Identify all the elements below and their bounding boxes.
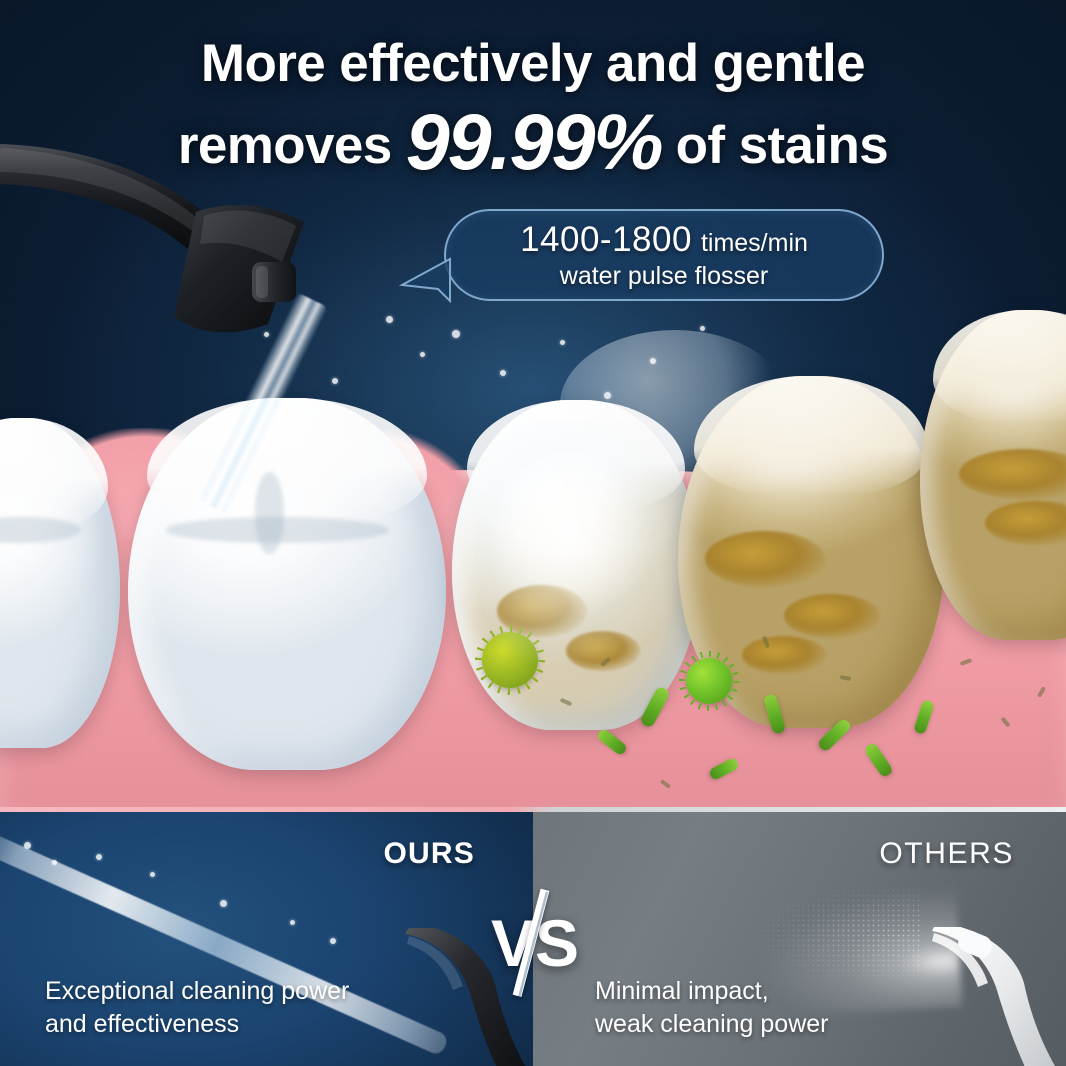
headline-percent: 99.99% (406, 102, 662, 181)
water-droplet (332, 378, 338, 384)
callout-rate-row: 1400-1800 times/min (520, 222, 808, 257)
others-caption-line-2: weak cleaning power (595, 1008, 828, 1041)
germ-icon (686, 658, 732, 704)
headline-removes: removes (178, 115, 392, 176)
others-caption-line-1: Minimal impact, (595, 975, 828, 1008)
water-droplet (330, 938, 336, 944)
germ-icon (482, 632, 538, 688)
tartar-deposit (705, 531, 825, 587)
comparison-panel-others: OTHERS Minimal impact, weak cleaning pow… (533, 812, 1066, 1066)
ours-caption-line-2: and effectiveness (45, 1008, 349, 1041)
headline-block: More effectively and gentle removes 99.9… (0, 36, 1066, 176)
callout-product-line: water pulse flosser (560, 262, 768, 291)
others-label: OTHERS (879, 837, 1014, 871)
water-droplet (700, 326, 705, 331)
others-caption: Minimal impact, weak cleaning power (595, 975, 828, 1040)
water-droplet (220, 900, 227, 907)
water-droplet (150, 872, 155, 877)
water-droplet (604, 392, 611, 399)
callout-rate-value: 1400-1800 (520, 222, 692, 257)
water-droplet (24, 842, 31, 849)
water-droplet (452, 330, 460, 338)
tooth-tip-highlight (694, 376, 928, 496)
flosser-tip-white-icon (928, 927, 1066, 1066)
comparison-separator (0, 807, 1066, 812)
tooth-tip-highlight (467, 400, 685, 512)
tooth-clean (128, 398, 446, 770)
water-droplet (96, 854, 102, 860)
tooth-groove (255, 472, 284, 554)
vs-badge-icon: VS (473, 884, 593, 1004)
callout-bubble: 1400-1800 times/min water pulse flosser (444, 209, 884, 301)
callout-bubble-tail (392, 255, 452, 305)
tooth-tip-highlight (0, 418, 108, 530)
water-droplet (386, 316, 393, 323)
headline-line-1: More effectively and gentle (0, 36, 1066, 92)
ours-caption: Exceptional cleaning power and effective… (45, 975, 349, 1040)
water-droplet (500, 370, 506, 376)
comparison-section: OURS Exceptional cleaning power and effe… (0, 812, 1066, 1066)
ours-label: OURS (384, 837, 475, 871)
comparison-panel-ours: OURS Exceptional cleaning power and effe… (0, 812, 533, 1066)
water-droplet (560, 340, 565, 345)
tooth-tip-highlight (933, 310, 1066, 422)
tooth-tip-highlight (147, 398, 427, 524)
callout-rate-unit: times/min (701, 231, 808, 256)
tooth-clean (0, 418, 120, 748)
water-droplet (290, 920, 295, 925)
tooth-stained (920, 310, 1066, 640)
product-infographic-poster: More effectively and gentle removes 99.9… (0, 0, 1066, 1066)
headline-line-2: removes 99.99% of stains (0, 96, 1066, 176)
water-droplet (650, 358, 656, 364)
headline-of-stains: of stains (676, 115, 889, 176)
water-droplet (420, 352, 425, 357)
hero-section: More effectively and gentle removes 99.9… (0, 0, 1066, 812)
water-droplet (52, 860, 57, 865)
weak-spray-particles (561, 828, 921, 978)
ours-caption-line-1: Exceptional cleaning power (45, 975, 349, 1008)
